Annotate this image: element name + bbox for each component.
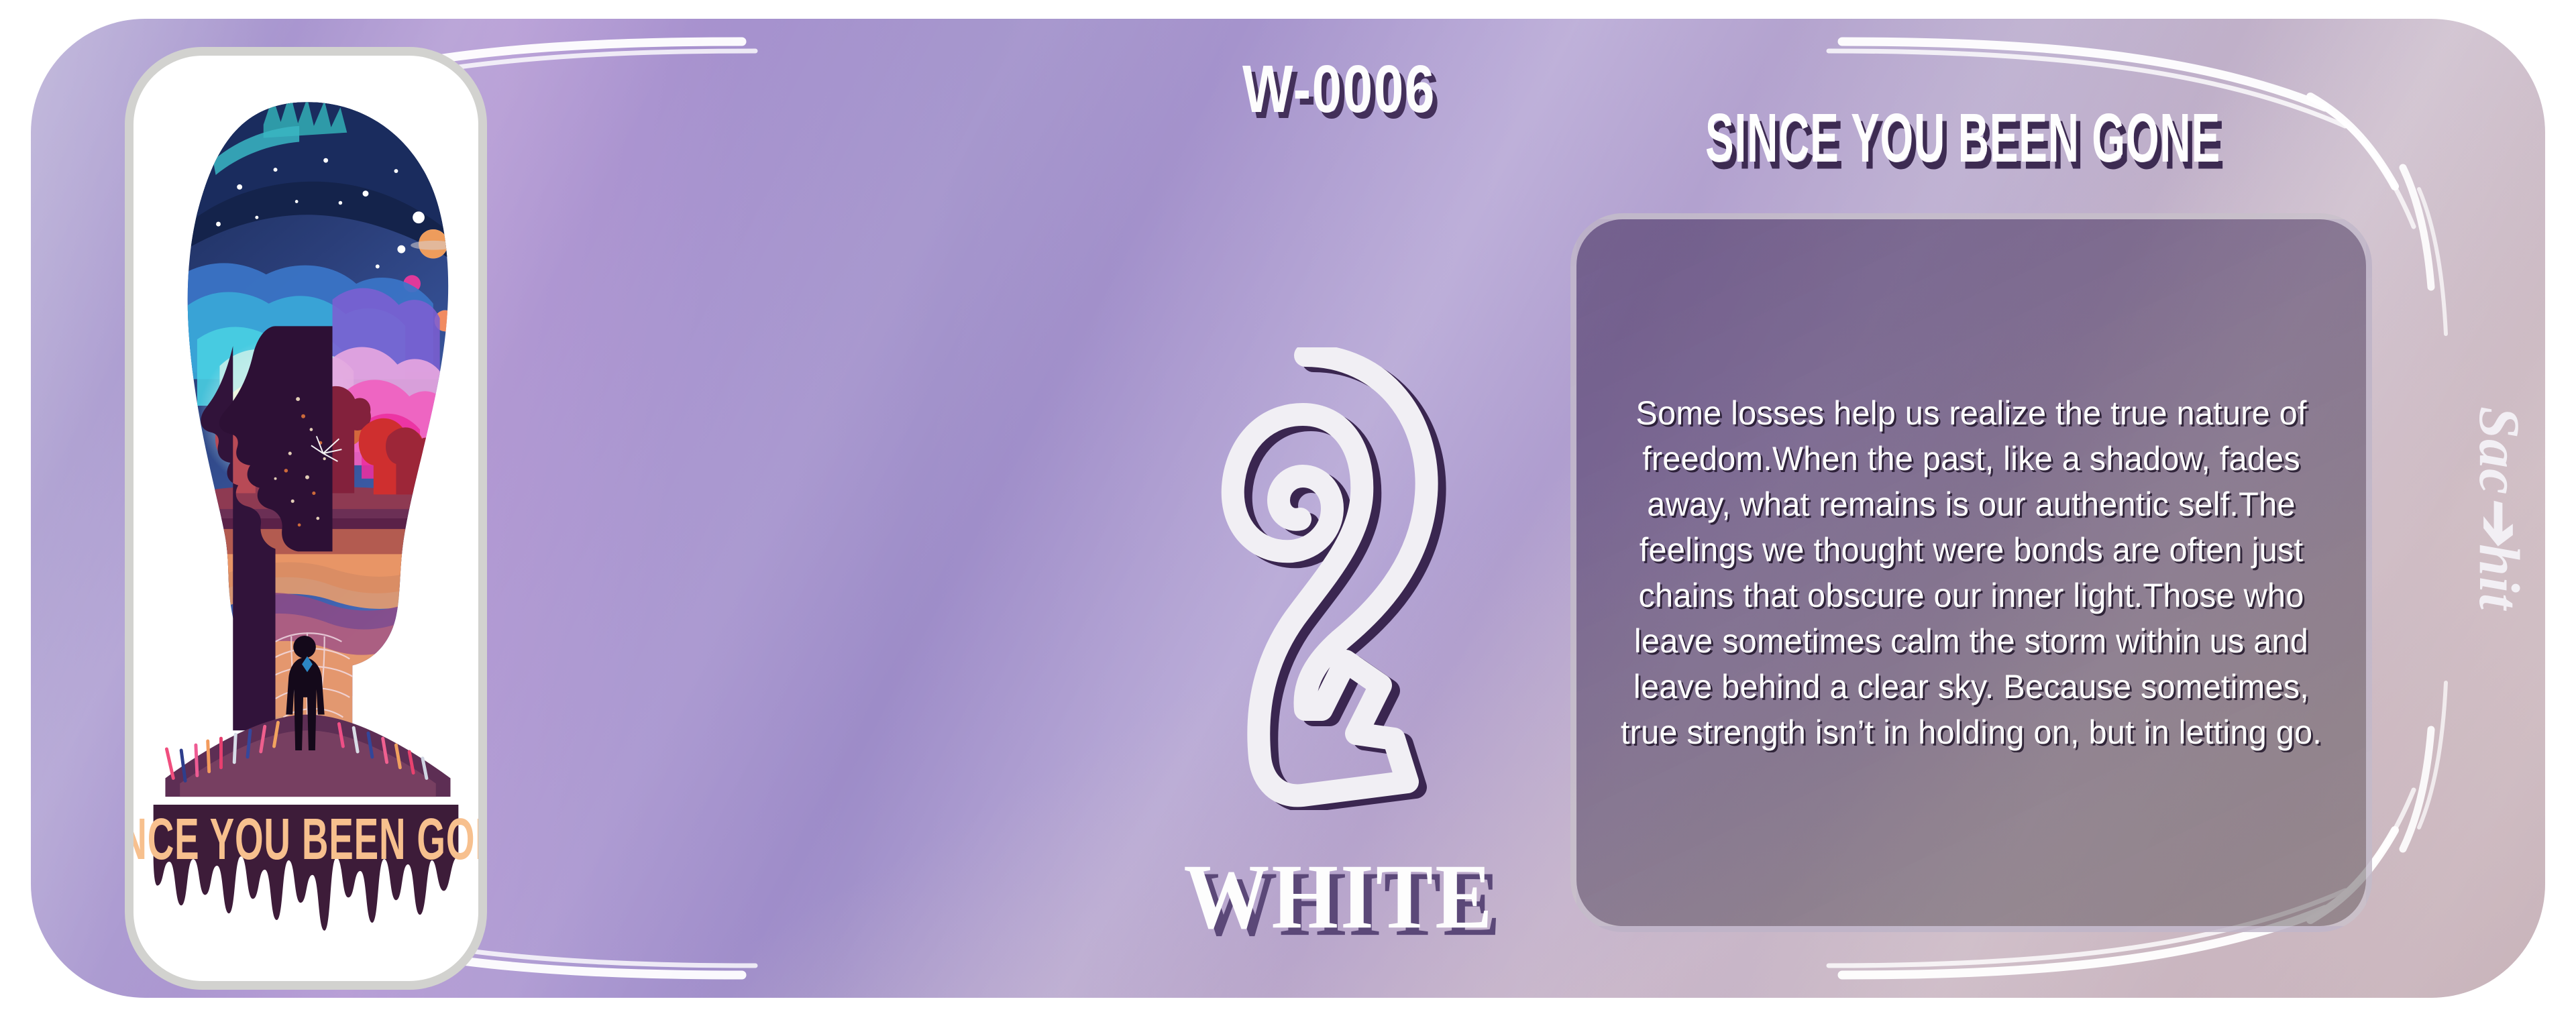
artwork-image: SINCE YOU BEEN GONE: [133, 56, 478, 981]
product-code: W-0006: [1119, 51, 1559, 128]
brand-watermark-text: Sac➔hit: [2466, 406, 2533, 610]
design-title: SINCE YOU BEEN GONE: [1633, 98, 2293, 178]
artwork-card[interactable]: SINCE YOU BEEN GONE: [125, 47, 487, 990]
color-name: WHITE: [1057, 844, 1621, 950]
artwork-caption: SINCE YOU BEEN GONE: [133, 807, 478, 872]
banner-frame: SINCE YOU BEEN GONE W-0006 WHITE SINCE Y…: [31, 19, 2545, 998]
size-mark-icon: [1144, 347, 1520, 810]
ticket-banner: SINCE YOU BEEN GONE W-0006 WHITE SINCE Y…: [0, 0, 2576, 1030]
brand-watermark: Sac➔hit: [2379, 354, 2545, 663]
description-text: Some losses help us realize the true nat…: [1617, 390, 2325, 754]
description-panel: Some losses help us realize the true nat…: [1570, 213, 2372, 932]
